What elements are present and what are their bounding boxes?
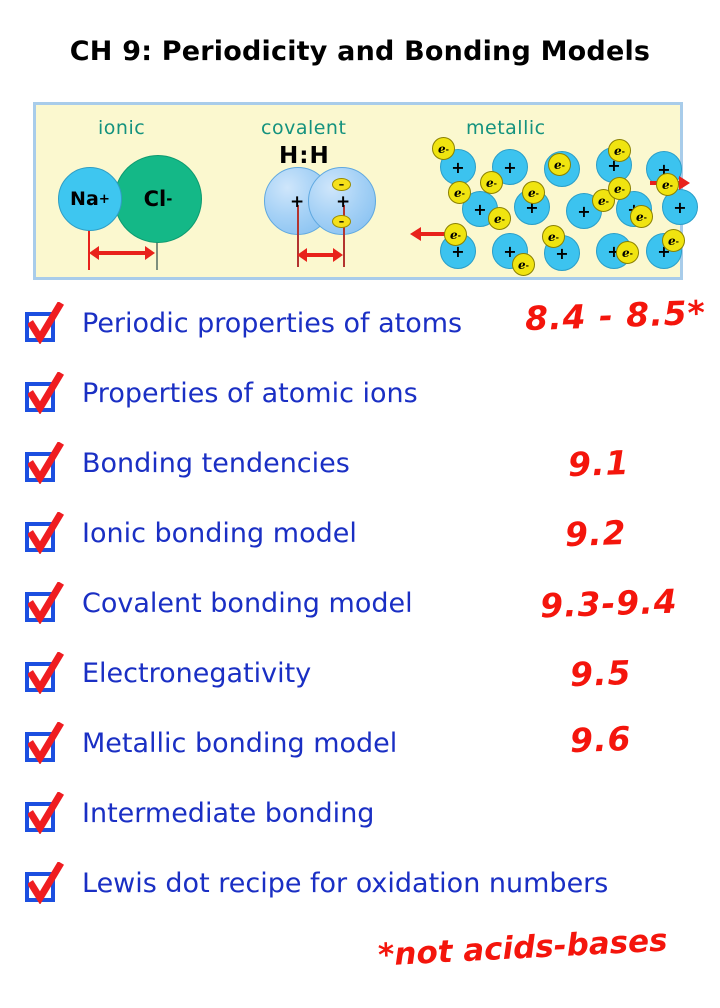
- covalent-nucleus-left: +: [290, 192, 304, 212]
- metallic-lattice: + + + + + + + + + + + + + + + e- e- e- e…: [418, 135, 686, 280]
- chloride-ion-circle: Cl-: [114, 155, 202, 243]
- checkbox-8[interactable]: [25, 872, 55, 902]
- checklist-item[interactable]: Properties of atomic ions: [0, 370, 720, 440]
- free-electron: e-: [548, 153, 571, 176]
- covalent-formula-label: H:H: [279, 143, 330, 169]
- covalent-bond-length-arrow: [306, 253, 334, 257]
- checklist-item-label: Intermediate bonding: [82, 798, 374, 829]
- checkbox-5[interactable]: [25, 662, 55, 692]
- free-electron: e-: [480, 171, 503, 194]
- free-electron: e-: [542, 225, 565, 248]
- sodium-ion-label: Na: [70, 188, 99, 210]
- checkbox-0[interactable]: [25, 312, 55, 342]
- free-electron: e-: [432, 137, 455, 160]
- checkbox-4[interactable]: [25, 592, 55, 622]
- checklist-item[interactable]: Metallic bonding model9.6: [0, 720, 720, 790]
- checkbox-1[interactable]: [25, 382, 55, 412]
- checklist-item-label: Periodic properties of atoms: [82, 308, 462, 339]
- panel-label-covalent: covalent: [261, 117, 346, 139]
- free-electron: e-: [522, 181, 545, 204]
- checklist-item-section-ref: 9.3-9.4: [539, 582, 678, 626]
- ionic-bond-length-arrow: [98, 251, 146, 255]
- free-electron: e-: [444, 223, 467, 246]
- free-electron: e-: [448, 181, 471, 204]
- bonding-models-diagram: ionic covalent metallic Cl- Na+ H:H + + …: [33, 102, 683, 280]
- checklist-item-section-ref: 9.2: [564, 513, 627, 554]
- sodium-ion-charge: +: [99, 192, 110, 207]
- checklist-item[interactable]: Covalent bonding model9.3-9.4: [0, 580, 720, 650]
- chloride-ion-label: Cl: [144, 187, 167, 211]
- checklist-item-section-ref: 9.1: [567, 443, 630, 484]
- page-title: CH 9: Periodicity and Bonding Models: [0, 36, 720, 67]
- free-electron: e-: [662, 229, 685, 252]
- checkbox-3[interactable]: [25, 522, 55, 552]
- free-electron: e-: [512, 253, 535, 276]
- panel-label-ionic: ionic: [98, 117, 145, 139]
- checklist-item-label: Metallic bonding model: [82, 728, 397, 759]
- covalent-shared-electron-bottom: –: [332, 215, 351, 228]
- free-electron: e-: [608, 139, 631, 162]
- free-electron: e-: [488, 207, 511, 230]
- free-electron: e-: [630, 205, 653, 228]
- sodium-ion-circle: Na+: [58, 167, 122, 231]
- covalent-shared-electron-top: –: [332, 178, 351, 191]
- checklist-item-label: Electronegativity: [82, 658, 311, 689]
- chloride-ion-charge: -: [166, 191, 172, 208]
- topics-checklist: Periodic properties of atoms8.4 - 8.5*Pr…: [0, 300, 720, 930]
- checklist-item-section-ref: 8.4 - 8.5*: [524, 293, 706, 338]
- checklist-item-section-ref: 9.5: [569, 653, 632, 694]
- checklist-item[interactable]: Bonding tendencies9.1: [0, 440, 720, 510]
- checklist-item-label: Lewis dot recipe for oxidation numbers: [82, 868, 608, 899]
- free-electron: e-: [608, 177, 631, 200]
- checklist-item-label: Ionic bonding model: [82, 518, 357, 549]
- checkbox-7[interactable]: [25, 802, 55, 832]
- free-electron: e-: [616, 241, 639, 264]
- checklist-item[interactable]: Intermediate bonding: [0, 790, 720, 860]
- checkbox-6[interactable]: [25, 732, 55, 762]
- checklist-item-label: Covalent bonding model: [82, 588, 413, 619]
- checklist-item[interactable]: Electronegativity9.5: [0, 650, 720, 720]
- checklist-item-label: Bonding tendencies: [82, 448, 350, 479]
- covalent-nucleus-right: +: [336, 192, 350, 212]
- checkbox-2[interactable]: [25, 452, 55, 482]
- checklist-item[interactable]: Ionic bonding model9.2: [0, 510, 720, 580]
- checklist-item[interactable]: Periodic properties of atoms8.4 - 8.5*: [0, 300, 720, 370]
- checklist-item-label: Properties of atomic ions: [82, 378, 418, 409]
- footnote-annotation: *not acids-bases: [377, 922, 668, 973]
- checklist-item[interactable]: Lewis dot recipe for oxidation numbers: [0, 860, 720, 930]
- free-electron: e-: [656, 173, 679, 196]
- checklist-item-section-ref: 9.6: [569, 719, 632, 760]
